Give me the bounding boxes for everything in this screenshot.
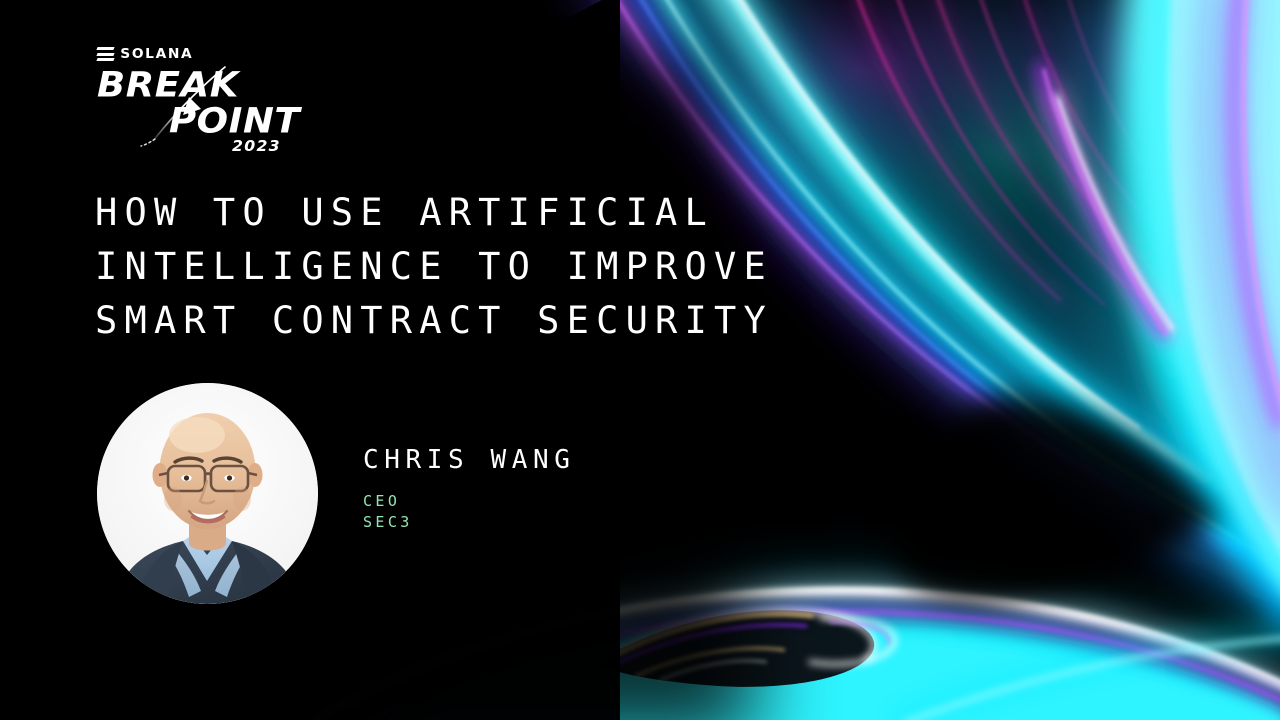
title-line-1: HOW TO USE ARTIFICIAL [95,186,975,240]
presentation-slide: SOLANA BREAK POINT 2023 HOW TO [0,0,1280,720]
solana-wordmark: SOLANA [120,46,193,62]
speaker-block: CHRIS WANG CEO SEC3 [97,383,657,605]
title-line-3: SMART CONTRACT SECURITY [95,294,975,348]
breakpoint-year: 2023 [232,139,281,154]
breakpoint-logo: BREAK POINT 2023 [97,67,297,145]
title-line-2: INTELLIGENCE TO IMPROVE [95,240,975,294]
speaker-role: CEO [363,491,663,512]
speaker-headshot [97,383,318,604]
breakpoint-word-point: POINT [169,103,300,138]
breakpoint-branding: SOLANA BREAK POINT 2023 [97,46,317,146]
speaker-details: CHRIS WANG CEO SEC3 [363,445,663,533]
speaker-company: SEC3 [363,512,663,533]
solana-logo: SOLANA [97,46,317,62]
solana-logo-icon [97,47,114,61]
breakpoint-word-break: BREAK [97,67,239,102]
slide-title: HOW TO USE ARTIFICIAL INTELLIGENCE TO IM… [95,186,975,348]
speaker-name: CHRIS WANG [363,445,663,475]
